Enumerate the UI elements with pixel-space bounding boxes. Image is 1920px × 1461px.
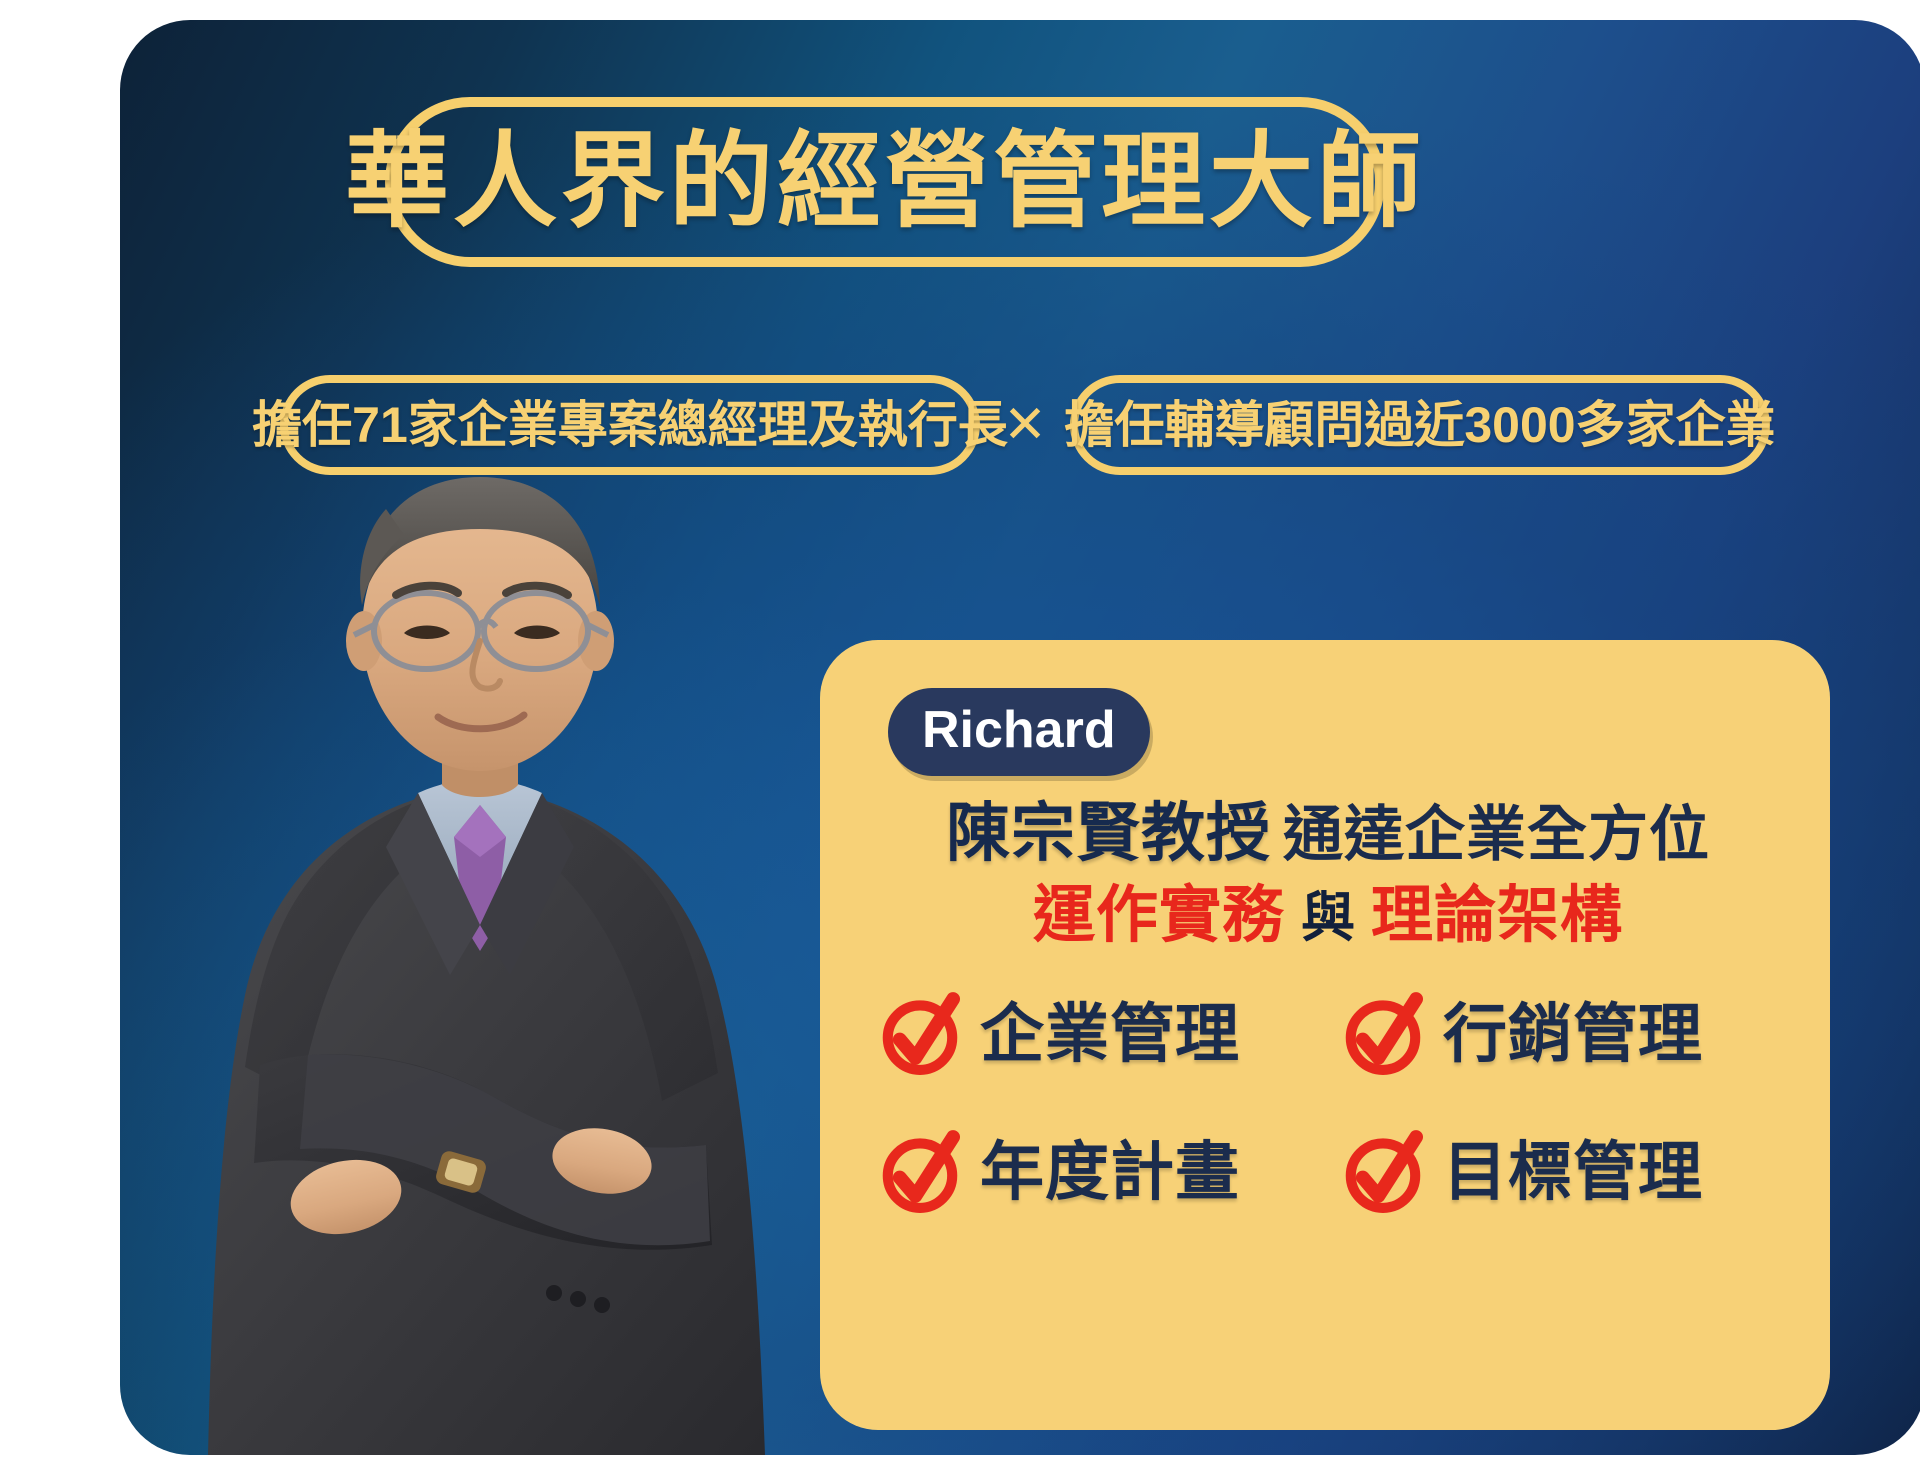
- credential-left-label: 擔任71家企業專案總經理及執行長: [252, 400, 1008, 450]
- speaker-name-suffix: 通達企業全方位: [1283, 801, 1710, 868]
- checklist-label: 行銷管理: [1443, 1002, 1703, 1066]
- promo-poster: 華人界的經營管理大師 擔任71家企業專案總經理及執行長 ✕ 擔任輔導顧問過近30…: [120, 20, 1920, 1455]
- check-circle-icon: [1337, 1126, 1429, 1218]
- credential-right-label: 擔任輔導顧問過近3000多家企業: [1064, 400, 1775, 450]
- highlight-line: 運作實務與理論架構: [866, 883, 1790, 948]
- credential-pill-left: 擔任71家企業專案總經理及執行長: [280, 375, 980, 475]
- credentials-separator-icon: ✕: [997, 399, 1053, 451]
- speaker-name-line: 陳宗賢教授通達企業全方位: [866, 800, 1790, 867]
- main-title-pill: 華人界的經營管理大師: [385, 97, 1385, 267]
- page-title: 華人界的經營管理大師: [345, 130, 1425, 234]
- profile-card: Richard 陳宗賢教授通達企業全方位 運作實務與理論架構 企業管理: [820, 640, 1830, 1430]
- speaker-portrait: [150, 455, 810, 1455]
- checklist-item: 行銷管理: [1337, 988, 1790, 1080]
- checklist-item: 年度計畫: [874, 1126, 1327, 1218]
- checklist-item: 目標管理: [1337, 1126, 1790, 1218]
- check-circle-icon: [874, 988, 966, 1080]
- checklist-label: 目標管理: [1443, 1140, 1703, 1204]
- checklist-label: 企業管理: [980, 1002, 1240, 1066]
- credentials-row: 擔任71家企業專案總經理及執行長 ✕ 擔任輔導顧問過近3000多家企業: [280, 375, 1770, 475]
- highlight-first: 運作實務: [1033, 881, 1285, 950]
- check-circle-icon: [1337, 988, 1429, 1080]
- check-circle-icon: [874, 1126, 966, 1218]
- checklist-item: 企業管理: [874, 988, 1327, 1080]
- checklist-label: 年度計畫: [980, 1140, 1240, 1204]
- credential-pill-right: 擔任輔導顧問過近3000多家企業: [1070, 375, 1770, 475]
- highlight-conjunction: 與: [1301, 888, 1355, 948]
- expertise-checklist: 企業管理 行銷管理 年度計畫: [866, 988, 1790, 1218]
- speaker-name: 陳宗賢教授: [946, 797, 1271, 869]
- highlight-second: 理論架構: [1371, 881, 1623, 950]
- name-badge: Richard: [888, 688, 1150, 776]
